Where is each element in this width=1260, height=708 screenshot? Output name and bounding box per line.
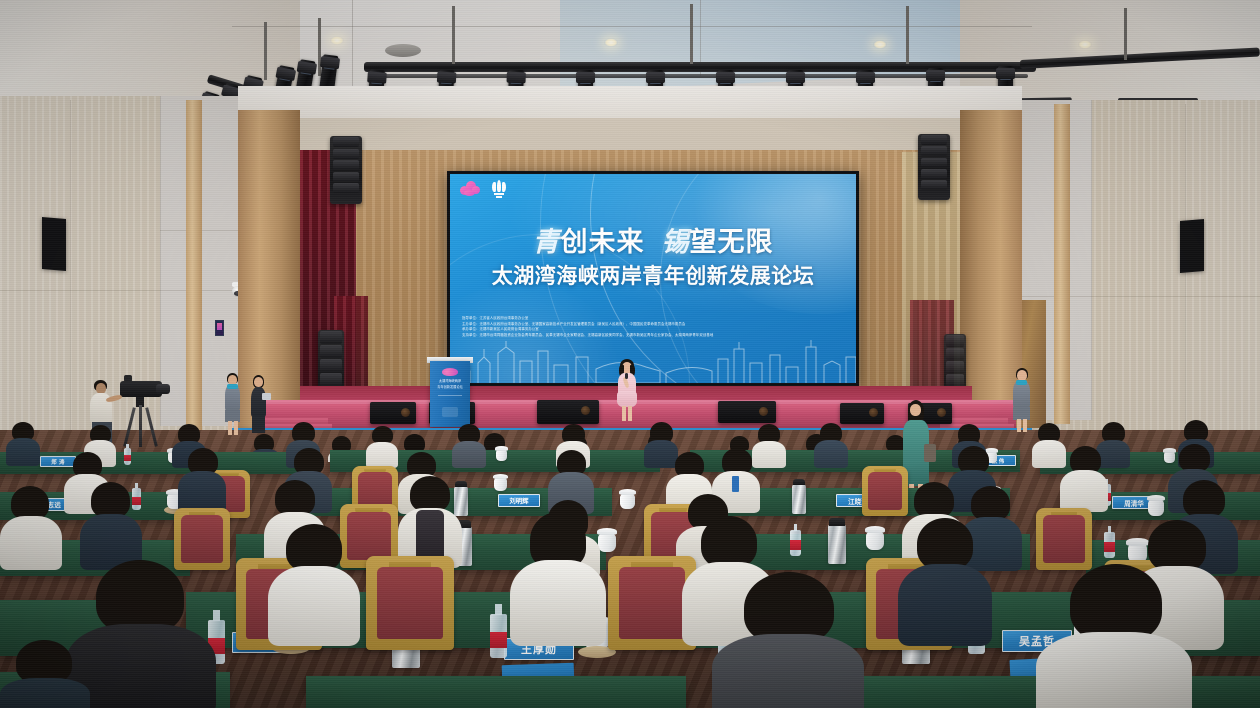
city-skyline-graphic <box>450 337 856 383</box>
audience-person <box>898 518 992 640</box>
usher-scarf <box>227 384 238 389</box>
stage-monitor <box>718 401 776 423</box>
teacup <box>866 532 884 550</box>
audience-person <box>398 476 462 566</box>
audience-foreground-person <box>712 572 864 708</box>
video-camera-lens <box>156 384 170 394</box>
wood-pilaster <box>1054 104 1070 424</box>
screen-subtitle: 太湖湾海峡两岸青年创新发展论坛 <box>450 260 856 290</box>
usher-right <box>1010 368 1034 432</box>
podium-banner-line-1: 太湖湾海峡两岸 <box>430 378 470 383</box>
headline-accent-2: 锡 <box>662 227 690 257</box>
thermos-pitcher <box>792 484 806 514</box>
screen-organizer-credits: 指导单位：江苏省人民政府台湾事务办公室 主办单位：无锡市人民政府台湾事务办公室、… <box>462 316 844 338</box>
clipboard-icon <box>262 393 271 400</box>
headline-rest-1: 创未来 <box>560 227 644 257</box>
line-array-speaker-right <box>918 134 950 200</box>
usher-left-2 <box>248 375 270 433</box>
line-array-speaker-left <box>330 136 362 204</box>
audience-person <box>366 426 398 466</box>
black-acoustic-panel <box>1180 219 1204 273</box>
screen-headline: 青创未来 锡望无限 <box>450 220 856 259</box>
audience-person <box>510 512 606 640</box>
conference-hall-photo: 青创未来 锡望无限 太湖湾海峡两岸青年创新发展论坛 指导单位：江苏省人民政府台湾… <box>0 0 1260 708</box>
table-foreground-center <box>306 676 686 708</box>
headline-accent-1: 青 <box>532 227 560 257</box>
teacup <box>620 494 635 509</box>
wall-digital-sign <box>215 320 224 336</box>
truss-right-bar <box>1020 47 1260 69</box>
thermos-pitcher <box>828 524 846 564</box>
water-bottle <box>490 614 507 658</box>
podium-logo-icon <box>442 368 458 376</box>
lotus-emblem-logo <box>491 180 507 198</box>
proscenium-top-band <box>238 86 1022 120</box>
audience-person <box>80 482 142 566</box>
water-bottle <box>1104 532 1115 558</box>
name-card: 刘明辉 <box>498 494 540 507</box>
podium-banner-line-2: 青年创新发展论坛 <box>430 384 470 389</box>
banquet-chair <box>366 556 454 650</box>
water-bottle <box>124 448 131 465</box>
black-acoustic-panel <box>42 217 66 271</box>
audience-foreground-person <box>1036 564 1192 708</box>
audience-person <box>814 423 848 466</box>
usher-left-1 <box>222 373 244 435</box>
stage-host-speaker <box>612 359 642 421</box>
audience-person <box>6 422 40 464</box>
audience-person <box>268 524 360 640</box>
stage-monitor <box>840 403 884 424</box>
handbag-icon <box>924 444 936 462</box>
banquet-chair <box>1036 508 1092 570</box>
audience-foreground-person <box>0 640 90 708</box>
headline-rest-2: 望无限 <box>690 227 774 257</box>
usher-scarf <box>1016 380 1027 385</box>
audience-person <box>452 424 486 466</box>
audience-person <box>0 486 62 566</box>
teacup <box>494 478 507 491</box>
microphone-icon <box>625 373 628 379</box>
wood-pilaster <box>186 100 202 430</box>
speaker-podium: 太湖湾海峡两岸 青年创新发展论坛 <box>430 361 470 427</box>
lanyard-badge <box>732 476 739 492</box>
stage-monitor <box>537 400 599 424</box>
teacup <box>496 450 507 461</box>
audience-person <box>1060 446 1108 510</box>
teacup <box>1148 500 1164 516</box>
cloud-emblem-logo <box>460 181 480 197</box>
water-bottle <box>790 530 801 556</box>
stage-monitor <box>370 402 416 424</box>
screen-logo-row <box>460 180 507 198</box>
camera-viewfinder <box>124 375 132 382</box>
led-stage-screen: 青创未来 锡望无限 太湖湾海峡两岸青年创新发展论坛 指导单位：江苏省人民政府台湾… <box>447 171 859 386</box>
audience-person <box>178 448 226 510</box>
